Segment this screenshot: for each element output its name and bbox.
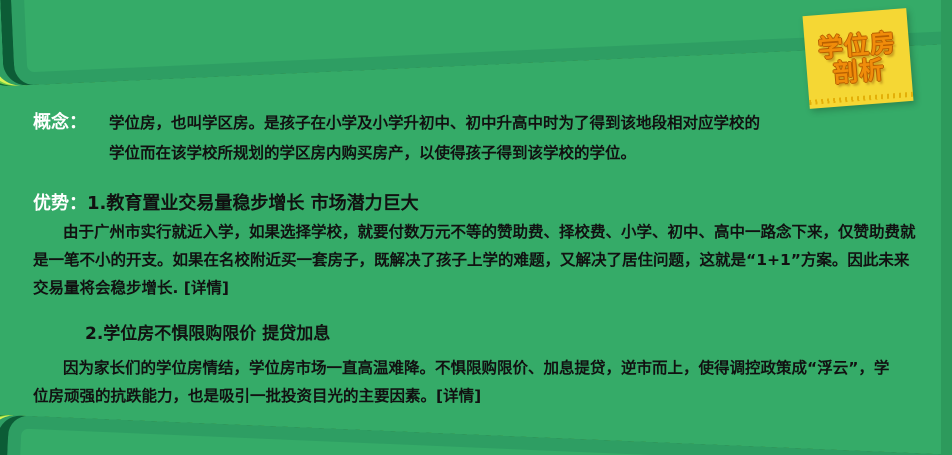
advantages-label: 优势： [33, 193, 87, 214]
poster-body: 概念： 学位房，也叫学区房。是孩子在小学及小学升初中、初中升高中时为了得到该地段… [0, 108, 952, 410]
frame-ring-3 [0, 414, 952, 455]
frame-ring-5 [0, 415, 952, 455]
advantage-1-line-1-text: 由于广州市实行就近入学，如果选择学校，就要付数万元不等的赞助费、择校费、小学、初… [63, 223, 916, 241]
frame-ring-6 [0, 415, 952, 455]
concept-line-1: 学位房，也叫学区房。是孩子在小学及小学升初中、初中升高中时为了得到该地段相对应学… [109, 108, 760, 138]
advantage-1-line-2: 是一笔不小的开支。如果在名校附近买一套房子，既解决了孩子上学的难题，又解决了居住… [0, 246, 952, 274]
frame-ring-1 [0, 413, 952, 455]
advantage-2-heading: 2.学位房不惧限购限价 提贷加息 [0, 320, 952, 348]
advantage-2-line-1: 因为家长们的学位房情结，学位房市场一直高温难降。不惧限购限价、加息提贷，逆市而上… [0, 354, 952, 382]
advantage-2-line-2[interactable]: 位房顽强的抗跌能力，也是吸引一批投资目光的主要因素。[详情] [0, 382, 952, 410]
title-badge-sticky-note: 学位房 剖析 [803, 8, 914, 109]
badge-title-line2: 剖析 [832, 56, 886, 86]
frame-ring-4 [0, 414, 952, 455]
advantage-2-heading-text: 2.学位房不惧限购限价 提贷加息 [85, 324, 330, 344]
concept-text-block: 学位房，也叫学区房。是孩子在小学及小学升初中、初中升高中时为了得到该地段相对应学… [87, 108, 760, 168]
poster-canvas: 学位房 剖析 概念： 学位房，也叫学区房。是孩子在小学及小学升初中、初中升高中时… [0, 0, 952, 455]
advantage-2-line-1-text: 因为家长们的学位房情结，学位房市场一直高温难降。不惧限购限价、加息提贷，逆市而上… [63, 359, 889, 377]
advantage-1-paragraph: 由于广州市实行就近入学，如果选择学校，就要付数万元不等的赞助费、择校费、小学、初… [0, 218, 952, 302]
frame-ring-2 [0, 413, 952, 455]
concept-section: 概念： 学位房，也叫学区房。是孩子在小学及小学升初中、初中升高中时为了得到该地段… [0, 108, 952, 168]
right-edge-band [941, 0, 952, 455]
badge-perforation-edge [809, 92, 913, 105]
advantage-1-heading: 优势：1.教育置业交易量稳步增长 市场潜力巨大 [0, 190, 952, 218]
advantage-1-heading-text: 1.教育置业交易量稳步增长 市场潜力巨大 [87, 193, 419, 214]
advantage-2-paragraph: 因为家长们的学位房情结，学位房市场一直高温难降。不惧限购限价、加息提贷，逆市而上… [0, 354, 952, 410]
decorative-frame-bottom [0, 413, 952, 455]
advantage-1-line-3[interactable]: 交易量将会稳步增长. [详情] [0, 274, 952, 302]
advantage-1-line-1: 由于广州市实行就近入学，如果选择学校，就要付数万元不等的赞助费、择校费、小学、初… [0, 218, 952, 246]
concept-label: 概念： [33, 108, 87, 138]
concept-line-2: 学位而在该学校所规划的学区房内购买房产，以使得孩子得到该学校的学位。 [109, 138, 760, 168]
